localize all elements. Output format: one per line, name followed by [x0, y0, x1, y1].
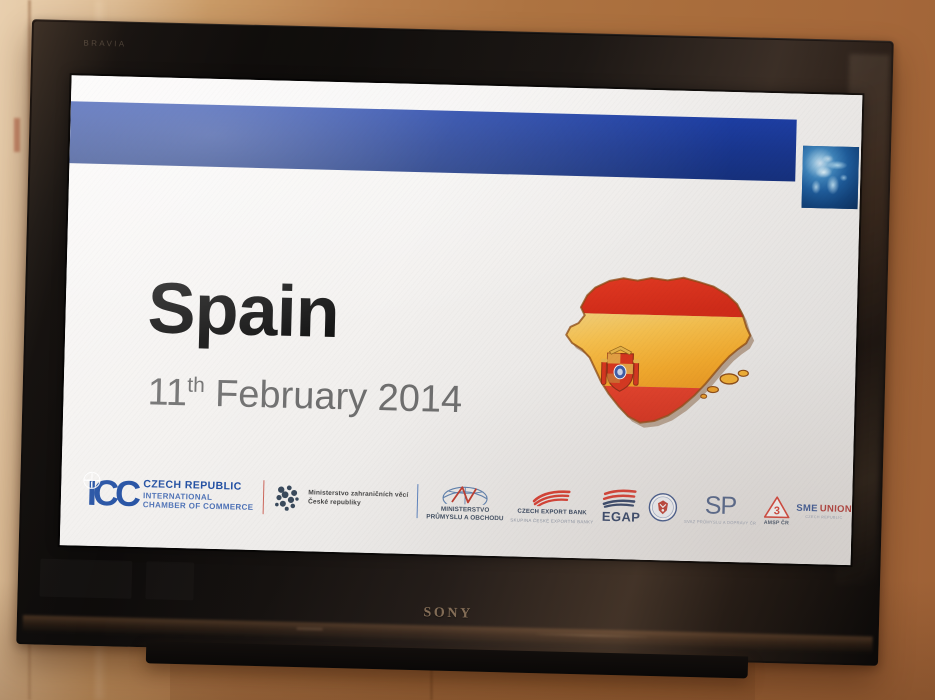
amsp-mark-icon: 3 [762, 494, 791, 519]
sponsor-logos: ICC CZECH REPUBLIC INTERNATIONAL CHAMBER… [60, 463, 852, 541]
spain-map-svg [548, 252, 783, 448]
logo-sme-union: SME UNION CZECH REPUBLIC [796, 503, 852, 520]
ceb-mark-icon [531, 485, 573, 506]
globe-icon [802, 146, 860, 209]
seal-icon [648, 492, 679, 523]
mpo-line2: PRŮMYSLU A OBCHODU [426, 513, 503, 523]
spain-map [548, 252, 783, 448]
wall-mark [14, 118, 20, 152]
sp-mark: SP [705, 493, 737, 519]
smeu-part1: SME [796, 503, 818, 515]
logo-chamber-seal [648, 492, 679, 523]
ceb-sub: SKUPINA ČESKÉ EXPORTNÍ BANKY [510, 517, 593, 524]
tv-speaker-left-2 [145, 561, 194, 600]
television: BRAVIA SONY Spain 11th February 2014 [16, 19, 894, 666]
icc-text: CZECH REPUBLIC INTERNATIONAL CHAMBER OF … [143, 479, 254, 513]
egap-text: EGAP [602, 509, 641, 525]
room-scene: BRAVIA SONY Spain 11th February 2014 [0, 0, 935, 700]
page-title: Spain [147, 272, 340, 349]
smeu-row: SME UNION [796, 503, 852, 515]
ceb-text: CZECH EXPORT BANK [517, 508, 587, 516]
icc-line3: CHAMBER OF COMMERCE [143, 500, 254, 512]
tv-screen: Spain 11th February 2014 [60, 75, 863, 565]
mzv-emblem-icon [272, 482, 303, 513]
logo-czech-export-bank: CZECH EXPORT BANK SKUPINA ČESKÉ EXPORTNÍ… [510, 485, 594, 524]
smeu-part2: UNION [820, 503, 852, 515]
bravia-logo: BRAVIA [83, 39, 126, 49]
logo-svaz-prumyslu: SP SVAZ PRŮMYSLU A DOPRAVY ČR [684, 492, 757, 525]
mpo-text: MINISTERSTVO PRŮMYSLU A OBCHODU [426, 505, 504, 523]
presentation-slide: Spain 11th February 2014 [60, 75, 863, 565]
logo-egap: EGAP [601, 488, 642, 525]
logo-divider-2 [417, 484, 418, 518]
logo-icc: ICC CZECH REPUBLIC INTERNATIONAL CHAMBER… [87, 475, 255, 515]
mzv-text: Ministerstvo zahraničních věcí České rep… [308, 490, 409, 510]
slide-header-band [69, 101, 796, 181]
egap-mark-icon [601, 488, 641, 509]
svg-text:3: 3 [773, 505, 779, 517]
mpo-mark-icon [438, 482, 493, 505]
logo-ministry-industry-trade: MINISTERSTVO PRŮMYSLU A OBCHODU [426, 481, 504, 523]
tv-speaker-left [39, 559, 132, 599]
date-ordinal: th [187, 374, 205, 397]
globe-landmass [802, 146, 860, 209]
logo-amsp-cr: 3 AMSP ČR [762, 494, 791, 526]
sp-sub: SVAZ PRŮMYSLU A DOPRAVY ČR [684, 518, 756, 525]
slide-date: 11th February 2014 [147, 373, 463, 419]
logo-ministry-foreign-affairs: Ministerstvo zahraničních věcí České rep… [272, 482, 409, 515]
date-rest: February 2014 [215, 373, 463, 421]
date-day: 11 [147, 371, 188, 414]
smeu-sub: CZECH REPUBLIC [805, 515, 842, 520]
mzv-emblem-svg [272, 482, 303, 513]
amsp-text: AMSP ČR [764, 519, 789, 526]
logo-divider-1 [262, 480, 263, 514]
